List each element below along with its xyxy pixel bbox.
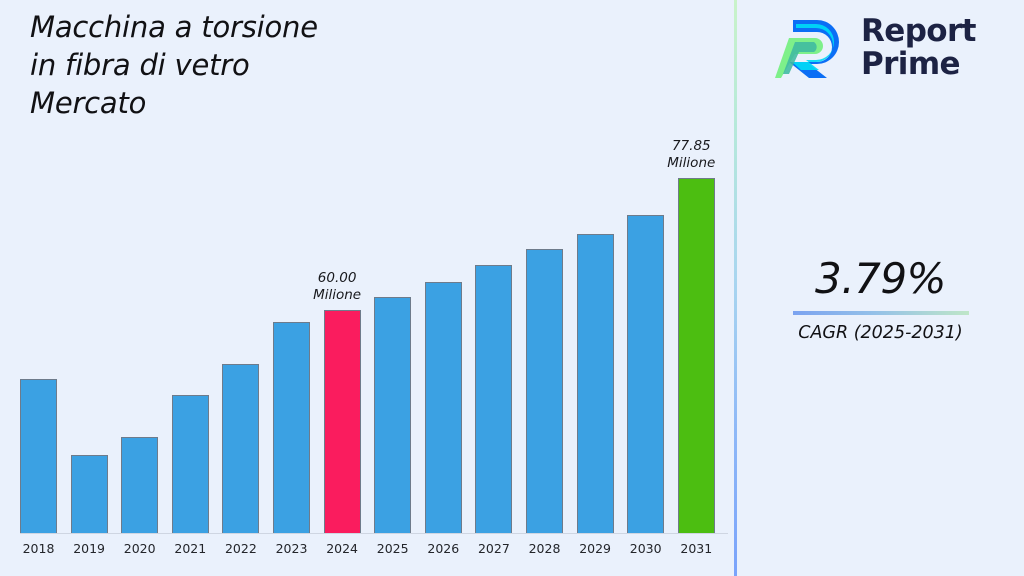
brand-name-line2: Prime xyxy=(861,46,960,82)
x-tick-label-2023: 2023 xyxy=(266,541,317,556)
bar-2019 xyxy=(71,455,108,533)
bar-chart-plot: 2018201920202021202220232024202520262027… xyxy=(0,0,735,576)
x-tick-label-2027: 2027 xyxy=(468,541,519,556)
x-tick-label-2020: 2020 xyxy=(114,541,165,556)
x-tick-label-2021: 2021 xyxy=(165,541,216,556)
bar-2027 xyxy=(475,265,512,533)
bar-value-annotation-2031: 77.85 Milione xyxy=(649,138,733,171)
bar-2028 xyxy=(526,249,563,533)
brand-name-line1: Report xyxy=(861,13,976,49)
bar-2018 xyxy=(20,379,57,533)
brand-panel: Report Prime 3.79% CAGR (2025-2031) xyxy=(737,0,1024,576)
infographic-canvas: Macchina a torsione in fibra di vetro Me… xyxy=(0,0,1024,576)
cagr-label: CAGR (2025-2031) xyxy=(737,322,1024,344)
bar-value-annotation-2024: 60.00 Milione xyxy=(295,270,379,303)
x-tick-label-2024: 2024 xyxy=(317,541,368,556)
x-tick-label-2030: 2030 xyxy=(620,541,671,556)
x-tick-label-2028: 2028 xyxy=(519,541,570,556)
cagr-value: 3.79% xyxy=(737,255,1024,303)
brand-name: Report Prime xyxy=(861,15,976,81)
x-tick-label-2026: 2026 xyxy=(418,541,469,556)
bar-2022 xyxy=(222,364,259,533)
x-tick-label-2018: 2018 xyxy=(13,541,64,556)
bar-2023 xyxy=(273,322,310,533)
cagr-divider-rule xyxy=(793,311,969,315)
bar-2025 xyxy=(374,297,411,533)
x-tick-label-2029: 2029 xyxy=(570,541,621,556)
bar-2021 xyxy=(172,395,209,533)
bar-2030 xyxy=(627,215,664,533)
x-tick-label-2019: 2019 xyxy=(64,541,115,556)
bar-2024 xyxy=(324,310,361,533)
brand-logo: Report Prime xyxy=(775,12,976,84)
x-tick-label-2025: 2025 xyxy=(367,541,418,556)
bar-2029 xyxy=(577,234,614,533)
bar-2031 xyxy=(678,178,715,533)
x-tick-label-2022: 2022 xyxy=(215,541,266,556)
cagr-block: 3.79% CAGR (2025-2031) xyxy=(737,255,1024,344)
chart-panel: Macchina a torsione in fibra di vetro Me… xyxy=(0,0,735,576)
bar-2020 xyxy=(121,437,158,533)
report-prime-r-logo-icon xyxy=(775,12,847,84)
x-tick-label-2031: 2031 xyxy=(671,541,722,556)
bar-2026 xyxy=(425,282,462,533)
